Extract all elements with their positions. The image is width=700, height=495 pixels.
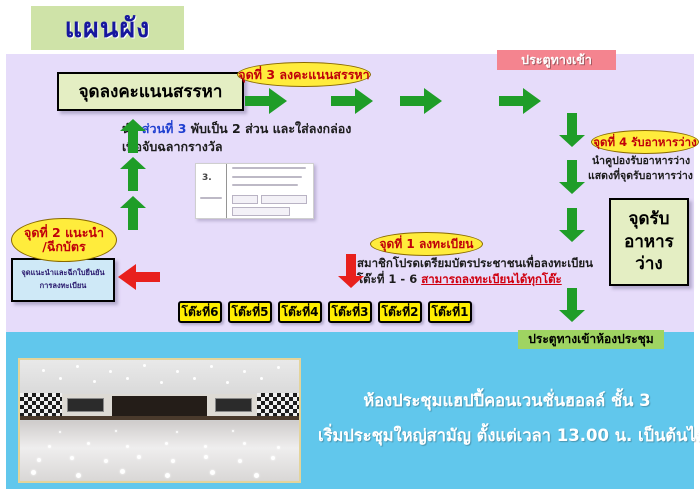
arrow-left-red-icon (118, 264, 160, 290)
snack-point-line-1: จุดรับ (629, 208, 670, 231)
form-section-number: 3. (202, 173, 212, 183)
callout-point-4: จุดที่ 4 รับอาหารว่าง (591, 130, 699, 154)
snack-instruction-line-2: แสดงที่จุดรับอาหารว่าง (588, 170, 693, 184)
registration-tables-range: โต๊ะที่ 1 - 6 (357, 272, 421, 286)
convention-hall-photo (18, 358, 301, 483)
fold-text-b: พับเป็น 2 ส่วน และใส่ลงกล่อง (186, 121, 351, 136)
photo-floor (20, 421, 299, 482)
arrow-up-icon-2 (120, 157, 146, 191)
page-title-text: แผนผัง (65, 15, 151, 42)
table-chip-3[interactable]: โต๊ะที่3 (328, 301, 372, 323)
arrow-right-icon-4 (499, 88, 541, 114)
arrow-down-icon-2 (559, 160, 585, 194)
form-vertical-separator (226, 164, 227, 218)
registration-any-table-note: สามารถลงทะเบียนได้ทุกโต๊ะ (421, 272, 562, 286)
table-chip-1-label: โต๊ะที่1 (432, 303, 469, 322)
table-chip-6[interactable]: โต๊ะที่6 (178, 301, 222, 323)
floor-plan-poster: แผนผัง จุดลงคะแนนสรรหา จุดรับ อาหาร ว่าง… (0, 0, 700, 495)
callout-point-2: จุดที่ 2 แนะนำ /ฉีกบัตร (11, 218, 117, 262)
arrow-down-red-icon (338, 254, 364, 288)
venue-caption-line-1: ห้องประชุมแฮปปี้คอนเวนชั่นฮอลล์ ชั้น 3 (322, 388, 692, 414)
table-chip-5-label: โต๊ะที่5 (232, 303, 269, 322)
entrance-door-label: ประตูทางเข้า (521, 50, 592, 70)
callout-point-4-label: จุดที่ 4 รับอาหารว่าง (593, 136, 696, 148)
page-title: แผนผัง (31, 6, 184, 50)
table-chip-6-label: โต๊ะที่6 (182, 303, 219, 322)
snack-point-line-2: อาหาร (624, 231, 674, 254)
callout-point-1-label: จุดที่ 1 ลงทะเบียน (380, 238, 474, 251)
table-chip-2[interactable]: โต๊ะที่2 (378, 301, 422, 323)
registration-instruction-line-2: โต๊ะที่ 1 - 6 สามารถลงทะเบียนได้ทุกโต๊ะ (357, 272, 562, 287)
arrow-down-icon-1 (559, 113, 585, 147)
vote-point-label: จุดลงคะแนนสรรหา (79, 78, 223, 105)
arrow-down-icon-4 (559, 288, 585, 322)
photo-screen-left (67, 398, 103, 413)
guide-tear-box: จุดแนะนำและฉีกใบยืนยัน การลงทะเบียน (11, 258, 115, 302)
meeting-room-door-band: ประตูทางเข้าห้องประชุม (518, 330, 664, 349)
table-chip-4-label: โต๊ะที่4 (282, 303, 319, 322)
arrow-right-icon-1 (245, 88, 287, 114)
snack-instruction-line-1: นำคูปองรับอาหารว่าง (592, 155, 690, 169)
callout-point-3-label: จุดที่ 3 ลงคะแนนสรรหา (238, 68, 369, 81)
photo-screen-right (215, 398, 251, 413)
arrow-right-icon-2 (331, 88, 373, 114)
guide-tear-line-1: จุดแนะนำและฉีกใบยืนยัน (21, 267, 104, 280)
arrow-down-icon-3 (559, 208, 585, 242)
entrance-door-band: ประตูทางเข้า (497, 50, 616, 70)
vote-point-box: จุดลงคะแนนสรรหา (57, 72, 244, 111)
fold-text-highlight: ส่วนที่ 3 (142, 121, 186, 136)
photo-stage (112, 396, 207, 417)
snack-point-line-3: ว่าง (635, 253, 662, 276)
callout-point-1: จุดที่ 1 ลงทะเบียน (370, 232, 483, 256)
callout-point-2-line-2: /ฉีกบัตร (42, 240, 85, 254)
table-chip-2-label: โต๊ะที่2 (382, 303, 419, 322)
photo-checker-panel-right (257, 393, 299, 417)
table-chip-5[interactable]: โต๊ะที่5 (228, 301, 272, 323)
venue-caption-line-2: เริ่มประชุมใหญ่สามัญ ตั้งแต่เวลา 13.00 น… (318, 423, 688, 449)
ballot-form-thumbnail: 3. (195, 163, 314, 219)
table-chip-3-label: โต๊ะที่3 (332, 303, 369, 322)
arrow-up-icon-1 (120, 119, 146, 153)
fold-instruction-line-1: นำ ส่วนที่ 3 พับเป็น 2 ส่วน และใส่ลงกล่อ… (122, 121, 351, 138)
arrow-up-icon-3 (120, 196, 146, 230)
meeting-room-door-label: ประตูทางเข้าห้องประชุม (528, 330, 653, 349)
callout-point-3: จุดที่ 3 ลงคะแนนสรรหา (237, 62, 371, 87)
snack-point-box: จุดรับ อาหาร ว่าง (609, 198, 689, 286)
table-chip-1[interactable]: โต๊ะที่1 (428, 301, 472, 323)
callout-point-2-line-1: จุดที่ 2 แนะนำ (24, 226, 104, 240)
guide-tear-line-2: การลงทะเบียน (40, 280, 87, 293)
table-chip-4[interactable]: โต๊ะที่4 (278, 301, 322, 323)
photo-checker-panel-left (20, 393, 62, 417)
arrow-right-icon-3 (400, 88, 442, 114)
registration-instruction-line-1: สมาชิกโปรดเตรียมบัตรประชาชนเพื่อลงทะเบีย… (357, 256, 593, 271)
